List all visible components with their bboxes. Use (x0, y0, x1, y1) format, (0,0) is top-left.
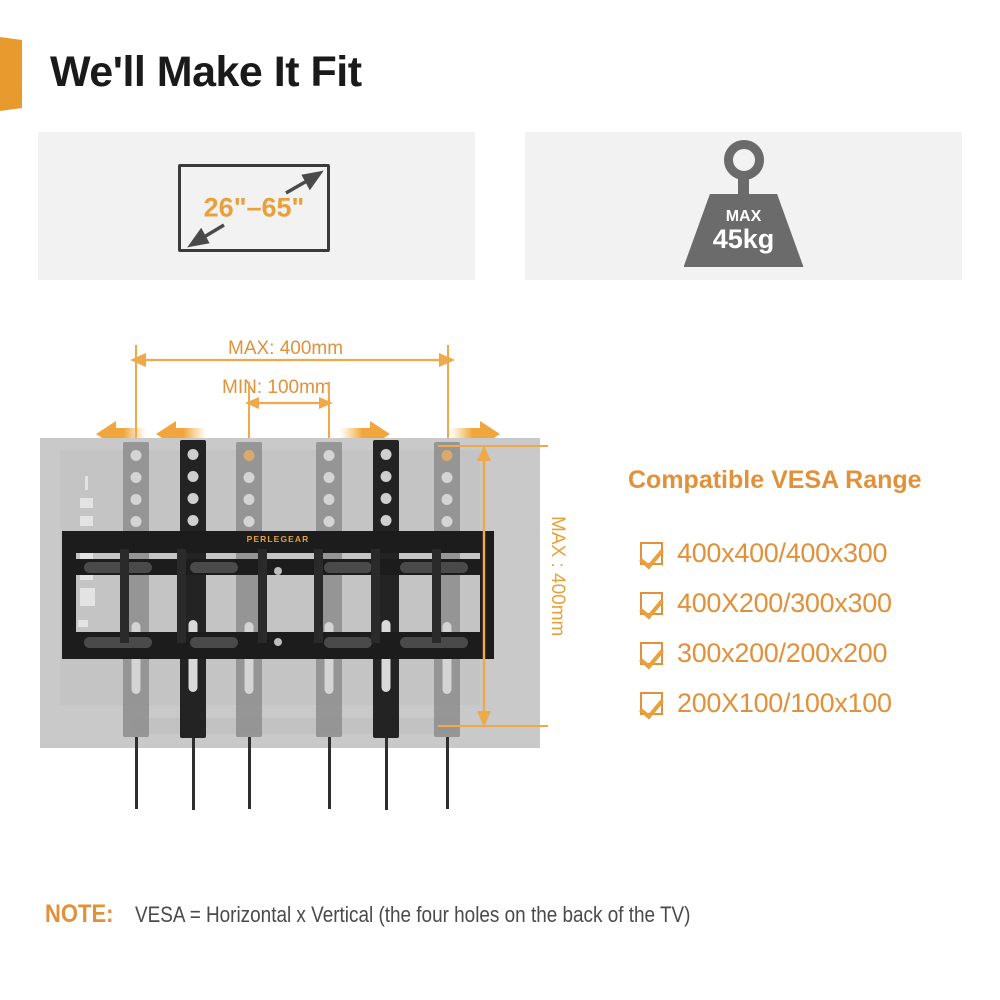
rail-cable (328, 737, 331, 809)
weight-max-label: MAX (726, 209, 762, 225)
bracket-arm (314, 549, 323, 643)
vesa-list-item: 300x200/200x200 (640, 628, 892, 678)
vertical-guide-bottom (438, 725, 548, 727)
vesa-item-label: 200X100/100x100 (677, 688, 892, 719)
tv-screen-outline-icon: 26"–65" (178, 164, 330, 252)
rail-cable (135, 737, 138, 809)
bracket-slot (84, 562, 152, 573)
header-accent-bar (0, 37, 22, 111)
screen-size-card: 26"–65" (38, 132, 475, 280)
weight-value: 45kg (713, 225, 775, 253)
bracket-arm (258, 549, 267, 643)
bracket-arm (432, 549, 441, 643)
horizontal-min-arrow (245, 395, 333, 411)
bracket-arm (120, 549, 129, 643)
checkbox-checked-icon (640, 542, 663, 565)
bracket-arm (177, 549, 186, 643)
rail-cable (248, 737, 251, 809)
vertical-guide-top (438, 445, 548, 447)
page-title: We'll Make It Fit (50, 48, 362, 97)
rail-cable (385, 738, 388, 810)
rail-cable (446, 737, 449, 809)
bracket-slot (190, 562, 238, 573)
vesa-item-label: 300x200/200x200 (677, 638, 887, 669)
bracket-slot (324, 637, 372, 648)
checkbox-checked-icon (640, 592, 663, 615)
vertical-max-arrow (476, 445, 492, 727)
checkbox-checked-icon (640, 692, 663, 715)
horizontal-max-arrow (130, 352, 455, 368)
brand-logo: PERLEGEAR (247, 534, 310, 544)
weight-block-icon: MAX 45kg (684, 194, 804, 267)
note-text: VESA = Horizontal x Vertical (the four h… (135, 902, 690, 928)
wall-mount-bracket: PERLEGEAR (62, 531, 494, 659)
tv-port (80, 516, 93, 526)
tv-port (85, 476, 88, 490)
weight-icon: MAX 45kg (525, 140, 962, 267)
weight-capacity-card: MAX 45kg (525, 132, 962, 280)
mount-diagram: MAX: 400mm MIN: 100mm MAX : 400mm MIN : … (0, 300, 600, 820)
note-row: NOTE: VESA = Horizontal x Vertical (the … (45, 900, 781, 929)
vesa-item-label: 400x400/400x300 (677, 538, 887, 569)
vertical-max-label: MAX : 400mm (546, 516, 568, 636)
rail-cable (192, 738, 195, 810)
bracket-screw (274, 567, 282, 575)
note-label: NOTE: (45, 900, 113, 929)
vesa-panel-title: Compatible VESA Range (628, 466, 922, 495)
bracket-slot (190, 637, 238, 648)
bracket-arm (371, 549, 380, 643)
vesa-range-list: 400x400/400x300 400X200/300x300 300x200/… (640, 528, 892, 728)
bracket-screw (274, 638, 282, 646)
vesa-list-item: 400X200/300x300 (640, 578, 892, 628)
tv-port (80, 498, 93, 508)
weight-ring-icon (724, 140, 764, 180)
vesa-list-item: 200X100/100x100 (640, 678, 892, 728)
bracket-slot (84, 637, 152, 648)
bracket-left-side (62, 531, 76, 659)
checkbox-checked-icon (640, 642, 663, 665)
vesa-item-label: 400X200/300x300 (677, 588, 892, 619)
vesa-list-item: 400x400/400x300 (640, 528, 892, 578)
bracket-slot (324, 562, 372, 573)
diagonal-arrows-icon (179, 165, 331, 253)
